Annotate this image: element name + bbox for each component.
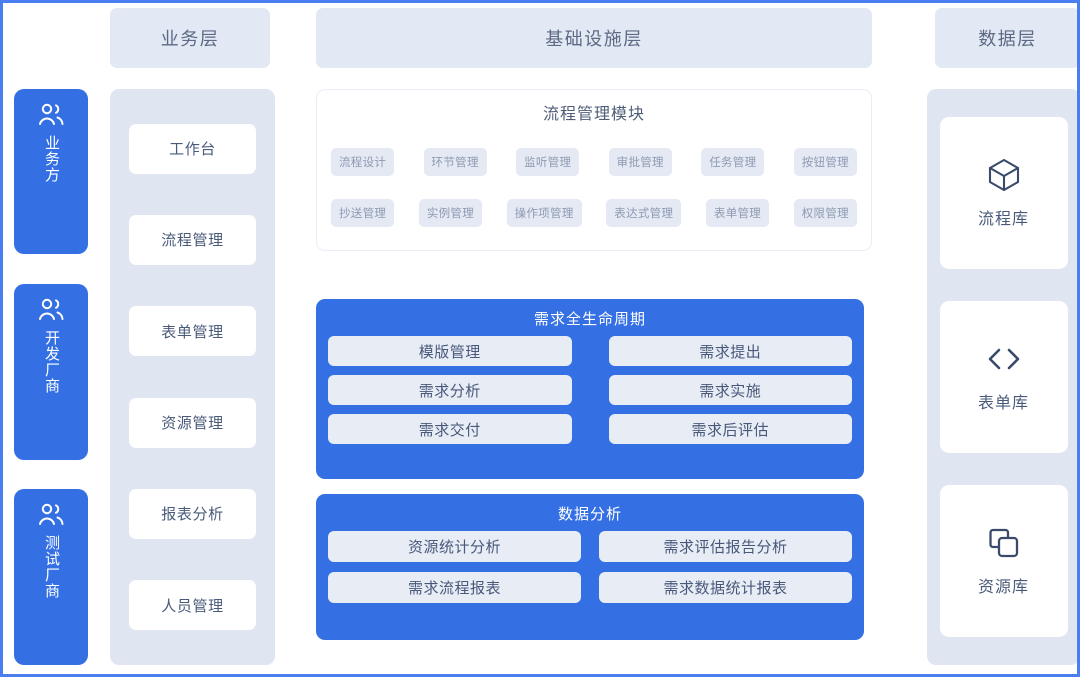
lifecycle-item-template-management[interactable]: 模版管理: [328, 336, 572, 366]
business-item-workbench[interactable]: 工作台: [129, 124, 256, 174]
lifecycle-item-post-evaluation[interactable]: 需求后评估: [609, 414, 853, 444]
business-item-personnel-management[interactable]: 人员管理: [129, 580, 256, 630]
process-module-title: 流程管理模块: [331, 100, 857, 124]
process-management-module: 流程管理模块 流程设计 环节管理 监听管理 审批管理 任务管理 按钮管理 抄送管…: [316, 89, 872, 251]
business-item-form-management[interactable]: 表单管理: [129, 306, 256, 356]
tag-operation-item-management[interactable]: 操作项管理: [507, 199, 582, 227]
lifecycle-title: 需求全生命周期: [328, 308, 852, 329]
business-item-process-management[interactable]: 流程管理: [129, 215, 256, 265]
analysis-title: 数据分析: [328, 503, 852, 524]
analysis-item-resource-statistics[interactable]: 资源统计分析: [328, 531, 581, 562]
copy-layers-icon: [986, 525, 1022, 561]
business-item-resource-management[interactable]: 资源管理: [129, 398, 256, 448]
lifecycle-item-requirement-analysis[interactable]: 需求分析: [328, 375, 572, 405]
data-card-form-library[interactable]: 表单库: [940, 301, 1068, 453]
tag-task-management[interactable]: 任务管理: [701, 148, 764, 176]
lifecycle-item-requirement-submission[interactable]: 需求提出: [609, 336, 853, 366]
actor-card-dev-vendor[interactable]: 开发厂商: [14, 284, 88, 460]
requirement-lifecycle-panel: 需求全生命周期 模版管理 需求提出 需求分析 需求实施 需求交付 需求后评估: [316, 299, 864, 479]
actor-label: 业务方: [41, 135, 61, 183]
cube-icon: [986, 157, 1022, 193]
tag-expression-management[interactable]: 表达式管理: [606, 199, 681, 227]
analysis-item-requirement-process-report[interactable]: 需求流程报表: [328, 572, 581, 603]
tag-permission-management[interactable]: 权限管理: [794, 199, 857, 227]
lifecycle-grid: 模版管理 需求提出 需求分析 需求实施 需求交付 需求后评估: [328, 336, 852, 444]
lifecycle-item-requirement-implementation[interactable]: 需求实施: [609, 375, 853, 405]
analysis-item-requirement-evaluation-report[interactable]: 需求评估报告分析: [599, 531, 852, 562]
data-card-label: 资源库: [978, 573, 1029, 597]
data-card-label: 流程库: [978, 205, 1029, 229]
business-item-report-analysis[interactable]: 报表分析: [129, 489, 256, 539]
tag-form-management[interactable]: 表单管理: [706, 199, 769, 227]
data-analysis-panel: 数据分析 资源统计分析 需求评估报告分析 需求流程报表 需求数据统计报表: [316, 494, 864, 640]
tag-listener-management[interactable]: 监听管理: [516, 148, 579, 176]
tag-approval-management[interactable]: 审批管理: [609, 148, 672, 176]
process-tag-row-1: 流程设计 环节管理 监听管理 审批管理 任务管理 按钮管理: [331, 136, 857, 187]
business-layer-panel: 工作台 流程管理 表单管理 资源管理 报表分析 人员管理: [110, 89, 275, 665]
tag-node-management[interactable]: 环节管理: [424, 148, 487, 176]
column-header-infrastructure: 基础设施层: [316, 8, 872, 68]
data-card-label: 表单库: [978, 389, 1029, 413]
data-card-resource-library[interactable]: 资源库: [940, 485, 1068, 637]
code-brackets-icon: [986, 341, 1022, 377]
data-card-process-library[interactable]: 流程库: [940, 117, 1068, 269]
tag-process-design[interactable]: 流程设计: [331, 148, 394, 176]
actor-rail: 业务方 开发厂商 测试厂商: [14, 89, 88, 665]
analysis-item-requirement-data-report[interactable]: 需求数据统计报表: [599, 572, 852, 603]
tag-cc-management[interactable]: 抄送管理: [331, 199, 394, 227]
tag-button-management[interactable]: 按钮管理: [794, 148, 857, 176]
users-icon: [36, 102, 66, 128]
actor-card-business-party[interactable]: 业务方: [14, 89, 88, 254]
column-header-business: 业务层: [110, 8, 270, 68]
actor-card-test-vendor[interactable]: 测试厂商: [14, 489, 88, 665]
actor-label: 开发厂商: [41, 330, 61, 394]
analysis-grid: 资源统计分析 需求评估报告分析 需求流程报表 需求数据统计报表: [328, 531, 852, 603]
process-tag-row-2: 抄送管理 实例管理 操作项管理 表达式管理 表单管理 权限管理: [331, 187, 857, 238]
architecture-diagram: 业务方 开发厂商 测试厂商: [0, 0, 1080, 677]
tag-instance-management[interactable]: 实例管理: [419, 199, 482, 227]
infrastructure-layer-column: 流程管理模块 流程设计 环节管理 监听管理 审批管理 任务管理 按钮管理 抄送管…: [316, 89, 872, 665]
users-icon: [36, 502, 66, 528]
lifecycle-item-requirement-delivery[interactable]: 需求交付: [328, 414, 572, 444]
data-layer-panel: 流程库 表单库 资源库: [927, 89, 1080, 665]
actor-label: 测试厂商: [41, 535, 61, 599]
column-header-data: 数据层: [935, 8, 1080, 68]
users-icon: [36, 297, 66, 323]
